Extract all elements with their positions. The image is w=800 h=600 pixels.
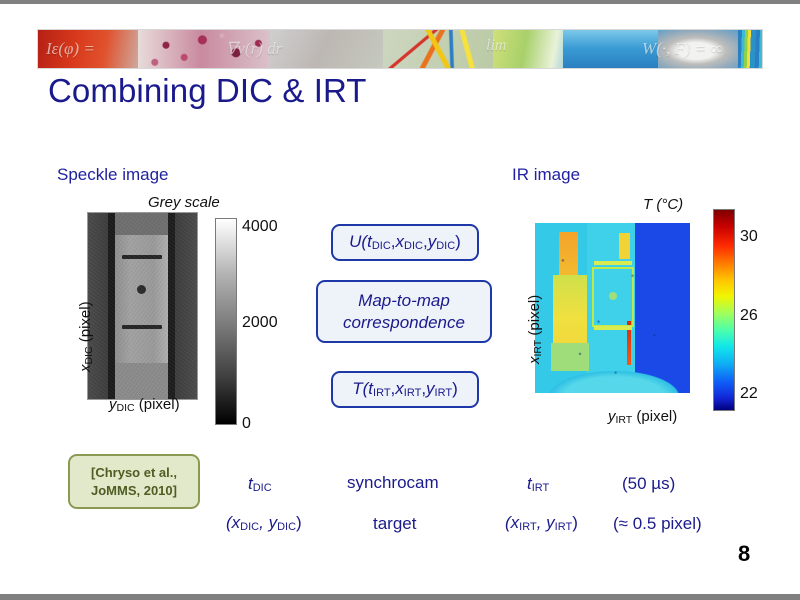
dic-box-y-sub: DIC	[436, 240, 455, 252]
banner-segment-fibre	[383, 30, 503, 68]
label-target: target	[373, 514, 416, 534]
label-xy-irt-sub1: IRT	[519, 521, 537, 533]
irt-box-t-sub: IRT	[373, 387, 391, 399]
label-xy-dic-close: )	[296, 513, 302, 532]
map-to-map-correspondence-box: Map-to-map correspondence	[316, 280, 492, 343]
dic-box-x-sub: DIC	[404, 240, 423, 252]
irt-box-x: x	[395, 379, 404, 398]
speckle-y-axis-unit: (pixel)	[77, 301, 94, 346]
irt-box-formula: T(tIRT,xIRT,yIRT)	[352, 378, 458, 400]
dic-box-formula: U(tDIC,xDIC,yDIC)	[349, 231, 461, 253]
label-xy-dic-open: (x	[226, 513, 240, 532]
irt-box-y-sub: IRT	[435, 387, 453, 399]
ir-y-axis-unit: (pixel)	[526, 295, 543, 340]
label-time-accuracy: (50 µs)	[622, 474, 675, 494]
map-box-line1: Map-to-map	[358, 291, 450, 310]
banner-formula-right: W(·, F) = ∞	[642, 39, 723, 59]
label-t-dic: tDIC	[248, 474, 272, 494]
ir-x-axis-subscript: IRT	[616, 414, 633, 426]
temperature-tick-26: 26	[740, 307, 758, 325]
label-t-irt: tIRT	[527, 474, 549, 494]
grey-scale-caption: Grey scale	[148, 194, 220, 211]
irt-box-fn: T(	[352, 379, 368, 398]
ir-x-axis-symbol: y	[608, 408, 616, 425]
label-xy-dic-sub2: DIC	[277, 521, 296, 533]
banner-formula-left: Iε(φ) =	[46, 39, 95, 59]
greyscale-tick-2000: 2000	[242, 314, 278, 332]
dic-box-close: )	[455, 232, 461, 251]
ir-x-axis-unit: (pixel)	[632, 408, 677, 425]
label-spatial-accuracy: (≈ 0.5 pixel)	[613, 514, 702, 534]
decorative-banner-image: Iε(φ) = ∇v(r) dr lim W(·, F) = ∞	[37, 29, 763, 69]
label-xy-irt-sub2: IRT	[555, 521, 573, 533]
speckle-x-axis-symbol: y	[109, 396, 117, 413]
irt-box-y: y	[426, 379, 435, 398]
dic-displacement-box: U(tDIC,xDIC,yDIC)	[331, 224, 479, 261]
speckle-y-axis-label: xDIC (pixel)	[77, 301, 95, 372]
banner-formula-mid: ∇v(r) dr	[226, 39, 282, 59]
map-box-text: Map-to-map correspondence	[343, 290, 465, 334]
ir-x-axis-label: yIRT (pixel)	[608, 408, 677, 426]
speckle-y-axis-symbol: x	[77, 365, 94, 373]
slide-title: Combining DIC & IRT	[48, 72, 367, 110]
irt-temperature-box: T(tIRT,xIRT,yIRT)	[331, 371, 479, 408]
label-xy-dic-sub1: DIC	[240, 521, 259, 533]
speckle-x-axis-label: yDIC (pixel)	[109, 396, 180, 414]
dic-box-x: x	[396, 232, 405, 251]
speckle-x-axis-unit: (pixel)	[135, 396, 180, 413]
greyscale-tick-4000: 4000	[242, 218, 278, 236]
speckle-image-heading: Speckle image	[57, 165, 169, 185]
dic-box-y: y	[428, 232, 437, 251]
speckle-image	[87, 212, 198, 400]
label-xy-irt: (xIRT, yIRT)	[505, 513, 578, 533]
citation-box: [Chryso et al., JoMMS, 2010]	[68, 454, 200, 509]
page-number: 8	[738, 541, 750, 567]
citation-line1: [Chryso et al.,	[91, 465, 177, 480]
banner-segment-grey	[270, 30, 390, 68]
label-synchrocam: synchrocam	[347, 473, 439, 493]
label-xy-dic-mid: , y	[259, 513, 277, 532]
speckle-texture-overlay	[88, 213, 197, 399]
temperature-tick-30: 30	[740, 228, 758, 246]
speckle-y-axis-subscript: DIC	[83, 346, 95, 364]
label-xy-irt-mid: , y	[537, 513, 555, 532]
ir-noise-overlay	[535, 223, 690, 393]
ir-thermal-image	[535, 223, 690, 393]
citation-line2: JoMMS, 2010]	[91, 483, 177, 498]
banner-formula-lim: lim	[486, 37, 506, 55]
citation-text: [Chryso et al., JoMMS, 2010]	[91, 464, 177, 499]
banner-segment-rainbow	[738, 30, 763, 68]
label-xy-dic: (xDIC, yDIC)	[226, 513, 302, 533]
map-box-line2: correspondence	[343, 313, 465, 332]
ir-y-axis-symbol: x	[526, 357, 543, 365]
label-xy-irt-close: )	[572, 513, 578, 532]
label-xy-irt-open: (x	[505, 513, 519, 532]
irt-box-x-sub: IRT	[404, 387, 422, 399]
greyscale-tick-0: 0	[242, 415, 251, 433]
ir-y-axis-label: xIRT (pixel)	[526, 295, 544, 364]
temperature-scale-caption: T (°C)	[643, 196, 683, 213]
dic-box-t-sub: DIC	[372, 240, 391, 252]
speckle-x-axis-subscript: DIC	[117, 402, 135, 414]
slide-canvas: Iε(φ) = ∇v(r) dr lim W(·, F) = ∞ Combini…	[0, 0, 800, 600]
ir-image-heading: IR image	[512, 165, 580, 185]
temperature-tick-22: 22	[740, 385, 758, 403]
label-t-dic-subscript: DIC	[253, 482, 272, 494]
label-t-irt-subscript: IRT	[532, 482, 550, 494]
greyscale-colorbar	[215, 218, 237, 425]
temperature-colorbar	[713, 209, 735, 411]
irt-box-close: )	[452, 379, 458, 398]
dic-box-fn: U(	[349, 232, 367, 251]
ir-y-axis-subscript: IRT	[532, 340, 544, 357]
